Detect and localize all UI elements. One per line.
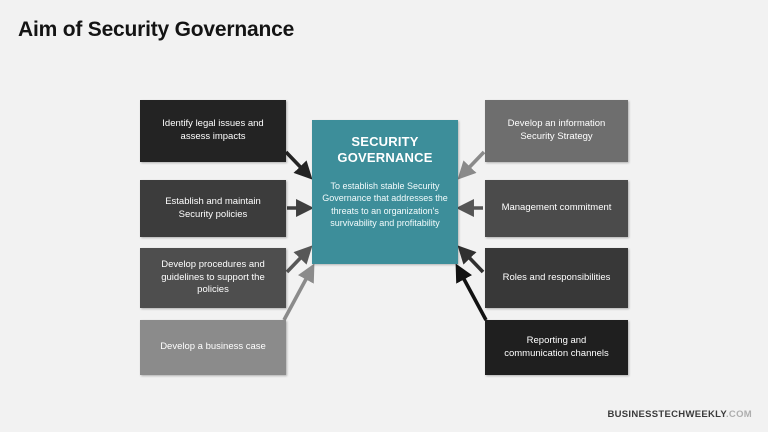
footer-brand: BUSINESSTECHWEEKLY [607,409,726,420]
node-label: Establish and maintain Security policies [150,196,276,222]
node-label: Management commitment [502,202,612,215]
arrow-right-1 [461,152,484,176]
arrow-right-4 [458,268,486,320]
node-management-commitment[interactable]: Management commitment [485,180,628,237]
node-label: Roles and responsibilities [503,272,611,285]
node-label: Develop an information Security Strategy [495,118,618,144]
node-reporting-communication-channels[interactable]: Reporting and communication channels [485,320,628,375]
node-develop-procedures-guidelines[interactable]: Develop procedures and guidelines to sup… [140,248,286,308]
node-label: Develop procedures and guidelines to sup… [150,259,276,297]
page-title: Aim of Security Governance [18,18,294,42]
arrow-left-1 [286,152,309,176]
center-node-security-governance[interactable]: SECURITY GOVERNANCE To establish stable … [312,120,458,264]
node-identify-legal-issues[interactable]: Identify legal issues and assess impacts [140,100,286,162]
node-label: Identify legal issues and assess impacts [150,118,276,144]
node-develop-business-case[interactable]: Develop a business case [140,320,286,375]
arrow-left-4 [284,268,312,320]
center-node-body: To establish stable Security Governance … [321,180,449,230]
node-develop-information-security-strategy[interactable]: Develop an information Security Strategy [485,100,628,162]
node-label: Reporting and communication channels [495,335,618,361]
arrow-left-3 [287,249,309,272]
node-roles-and-responsibilities[interactable]: Roles and responsibilities [485,248,628,308]
node-establish-security-policies[interactable]: Establish and maintain Security policies [140,180,286,237]
arrow-right-3 [461,249,483,272]
footer-tld: .COM [726,409,752,420]
node-label: Develop a business case [160,341,266,354]
diagram-canvas: Aim of Security Governance Identify lega… [0,0,768,432]
footer-watermark: BUSINESSTECHWEEKLY.COM [607,409,752,420]
center-node-title: SECURITY GOVERNANCE [321,134,449,167]
